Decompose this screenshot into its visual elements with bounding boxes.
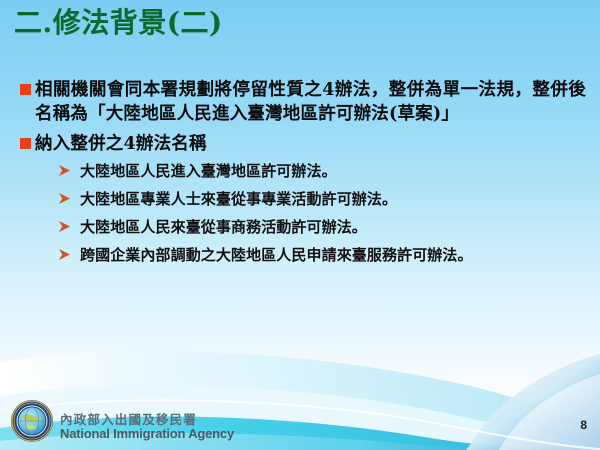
- sub-bullet-item: 大陸地區人民來臺從事商務活動許可辦法。: [58, 217, 560, 239]
- organization-name: 內政部入出國及移民署 National Immigration Agency: [60, 413, 234, 442]
- organization-name-en: National Immigration Agency: [60, 427, 234, 442]
- organization-name-cn: 內政部入出國及移民署: [60, 413, 234, 427]
- sub-bullet-text: 大陸地區人民來臺從事商務活動許可辦法。: [80, 217, 560, 239]
- page-title: 二.修法背景(二): [14, 8, 223, 39]
- bullet-item: 納入整併之4辦法名稱: [0, 132, 600, 156]
- slide-footer: 內政部入出國及移民署 National Immigration Agency 8: [0, 386, 600, 450]
- sub-bullet-item: 大陸地區人民進入臺灣地區許可辦法。: [58, 161, 560, 183]
- arrow-bullet-icon: [58, 220, 71, 236]
- sub-bullet-item: 大陸地區專業人士來臺從事專業活動許可辦法。: [58, 189, 560, 211]
- square-bullet-icon: [20, 84, 31, 95]
- sub-bullet-text: 大陸地區專業人士來臺從事專業活動許可辦法。: [80, 189, 560, 211]
- bullet-text: 納入整併之4辦法名稱: [35, 132, 586, 156]
- arrow-bullet-icon: [58, 248, 71, 264]
- page-number: 8: [580, 418, 587, 432]
- sub-bullet-list: 大陸地區人民進入臺灣地區許可辦法。 大陸地區專業人士來臺從事專業活動許可辦法。 …: [0, 161, 600, 266]
- arrow-bullet-icon: [58, 192, 71, 208]
- arrow-bullet-icon: [58, 164, 71, 180]
- national-immigration-agency-emblem-icon: [10, 399, 54, 443]
- square-bullet-icon: [20, 138, 31, 149]
- sub-bullet-text: 大陸地區人民進入臺灣地區許可辦法。: [80, 161, 560, 183]
- bullet-text: 相關機關會同本署規劃將停留性質之4辦法，整併為單一法規，整併後名稱為「大陸地區人…: [35, 78, 586, 126]
- presentation-slide: 二.修法背景(二) 相關機關會同本署規劃將停留性質之4辦法，整併為單一法規，整併…: [0, 0, 600, 450]
- slide-body: 相關機關會同本署規劃將停留性質之4辦法，整併為單一法規，整併後名稱為「大陸地區人…: [0, 78, 600, 272]
- sub-bullet-text: 跨國企業內部調動之大陸地區人民申請來臺服務許可辦法。: [80, 245, 560, 267]
- bullet-item: 相關機關會同本署規劃將停留性質之4辦法，整併為單一法規，整併後名稱為「大陸地區人…: [0, 78, 600, 126]
- sub-bullet-item: 跨國企業內部調動之大陸地區人民申請來臺服務許可辦法。: [58, 245, 560, 267]
